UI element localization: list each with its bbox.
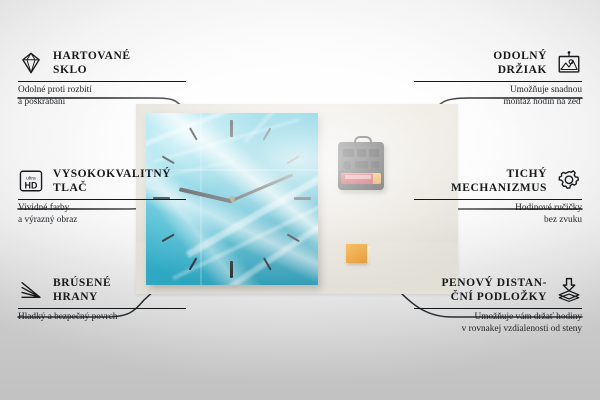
clock-mechanism bbox=[338, 142, 384, 190]
infographic-canvas: HARTOVANÉ SKLO Odolné proti rozbití a po… bbox=[0, 0, 600, 400]
foam-spacer-side bbox=[367, 246, 371, 265]
foam-spacer-pad bbox=[346, 244, 367, 263]
feature-rule bbox=[414, 81, 582, 82]
feature-rule bbox=[414, 308, 582, 309]
battery-positive-terminal bbox=[373, 173, 381, 184]
battery-label bbox=[345, 175, 371, 179]
feature-high-quality-print: ultra HD VYSOKOKVALITNÝ TLAČ Vividné far… bbox=[18, 168, 186, 226]
feature-description: Hladký a bezpečný povrch bbox=[18, 312, 186, 324]
ultra-hd-icon: ultra HD bbox=[18, 168, 44, 194]
feature-title: VYSOKOKVALITNÝ TLAČ bbox=[53, 168, 171, 195]
mechanism-hook bbox=[354, 136, 372, 146]
feature-description: Odolné proti rozbití a poškrábání bbox=[18, 85, 186, 108]
feature-rule bbox=[18, 199, 186, 200]
gear-icon bbox=[556, 168, 582, 194]
feature-hardened-glass: HARTOVANÉ SKLO Odolné proti rozbití a po… bbox=[18, 50, 186, 108]
picture-hanger-icon bbox=[556, 50, 582, 76]
feature-title: ODOLNÝ DRŽIAK bbox=[493, 50, 547, 77]
feature-description: Umožňuje snadnou montáž hodin na zeď bbox=[414, 85, 582, 108]
diamond-icon bbox=[18, 50, 44, 76]
feature-title: BRÚSENÉ HRANY bbox=[53, 277, 111, 304]
mechanism-battery bbox=[341, 173, 381, 184]
feature-title: HARTOVANÉ SKLO bbox=[53, 50, 131, 77]
feature-title: PENOVÝ DISTAN- ČNÍ PODLOŽKY bbox=[441, 277, 547, 304]
feature-durable-holder: ODOLNÝ DRŽIAK Umožňuje snadnou montáž ho… bbox=[414, 50, 582, 108]
feature-title: TICHÝ MECHANIZMUS bbox=[451, 168, 547, 195]
feature-rule bbox=[414, 199, 582, 200]
feature-description: Hodinové ručičky bez zvuku bbox=[414, 203, 582, 226]
ultra-hd-icon-main-label: HD bbox=[25, 180, 38, 190]
polished-edges-icon bbox=[18, 277, 44, 303]
feature-rule bbox=[18, 308, 186, 309]
feature-description: Umožňuje vám držať hodiny v rovnakej vzd… bbox=[414, 312, 582, 335]
feature-description: Vividné farby a výrazný obraz bbox=[18, 203, 186, 226]
feature-silent-mechanism: TICHÝ MECHANIZMUS Hodinové ručičky bez z… bbox=[414, 168, 582, 226]
feature-polished-edges: BRÚSENÉ HRANY Hladký a bezpečný povrch bbox=[18, 277, 186, 324]
feature-foam-spacers: PENOVÝ DISTAN- ČNÍ PODLOŽKY Umožňuje vám… bbox=[414, 277, 582, 335]
clock-center-pin bbox=[230, 197, 235, 202]
feature-rule bbox=[18, 81, 186, 82]
foam-spacer-icon bbox=[556, 277, 582, 303]
